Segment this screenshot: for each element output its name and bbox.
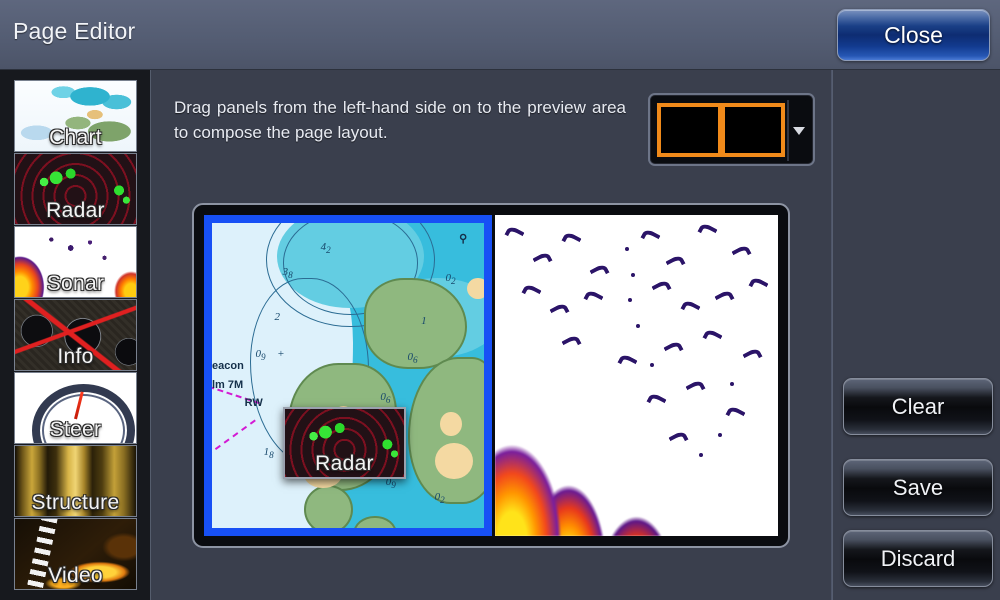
layout-cell-right bbox=[722, 103, 786, 157]
sidebar-item-chart[interactable]: Chart bbox=[14, 80, 137, 152]
video-thumbnail-icon bbox=[15, 519, 136, 589]
page-layout-preview-area[interactable]: 42 38 2 09 + 1 06 06 09 02 18 (5) 02 eac… bbox=[192, 203, 790, 548]
sidebar-item-structure[interactable]: Structure bbox=[14, 445, 137, 517]
layout-template-selector[interactable] bbox=[648, 93, 815, 166]
main-content-area: Drag panels from the left-hand side on t… bbox=[152, 70, 831, 600]
close-button[interactable]: Close bbox=[837, 9, 990, 61]
instruction-text: Drag panels from the left-hand side on t… bbox=[174, 95, 626, 145]
info-gauges-thumbnail-icon bbox=[15, 300, 136, 370]
radar-thumbnail-icon bbox=[15, 154, 136, 224]
chart-thumbnail-icon bbox=[15, 81, 136, 151]
sidebar-item-radar[interactable]: Radar bbox=[14, 153, 137, 225]
drag-ghost-radar[interactable]: Radar bbox=[283, 407, 406, 479]
sidebar-item-video[interactable]: Video bbox=[14, 518, 137, 590]
steer-compass-thumbnail-icon bbox=[15, 373, 136, 443]
page-title: Page Editor bbox=[13, 18, 135, 45]
preview-panel-sonar[interactable] bbox=[495, 215, 778, 536]
sidebar-item-info[interactable]: Info bbox=[14, 299, 137, 371]
layout-template-preview bbox=[657, 103, 785, 157]
clear-button[interactable]: Clear bbox=[843, 378, 993, 435]
panel-palette-sidebar[interactable]: Chart Radar Sonar Info Steer Structure V… bbox=[0, 70, 151, 600]
chart-render-icon: 42 38 2 09 + 1 06 06 09 02 18 (5) 02 eac… bbox=[212, 223, 484, 528]
vertical-divider bbox=[831, 70, 833, 600]
radar-thumbnail-icon bbox=[285, 409, 404, 477]
close-button-label: Close bbox=[884, 22, 943, 49]
title-bar: Page Editor Close bbox=[0, 0, 1000, 70]
preview-panel-chart[interactable]: 42 38 2 09 + 1 06 06 09 02 18 (5) 02 eac… bbox=[204, 215, 492, 536]
discard-button[interactable]: Discard bbox=[843, 530, 993, 587]
sidebar-item-steer[interactable]: Steer bbox=[14, 372, 137, 444]
save-button[interactable]: Save bbox=[843, 459, 993, 516]
structure-scan-thumbnail-icon bbox=[15, 446, 136, 516]
page-editor-window: Page Editor Close Chart Radar Sonar Info… bbox=[0, 0, 1000, 600]
layout-cell-left bbox=[657, 103, 722, 157]
clear-button-label: Clear bbox=[892, 394, 945, 420]
sonar-thumbnail-icon bbox=[15, 227, 136, 297]
layout-dropdown-button[interactable] bbox=[787, 100, 808, 161]
sidebar-item-sonar[interactable]: Sonar bbox=[14, 226, 137, 298]
chevron-down-icon bbox=[793, 127, 805, 135]
save-button-label: Save bbox=[893, 475, 943, 501]
sonar-render-icon bbox=[495, 215, 778, 536]
discard-button-label: Discard bbox=[881, 546, 956, 572]
